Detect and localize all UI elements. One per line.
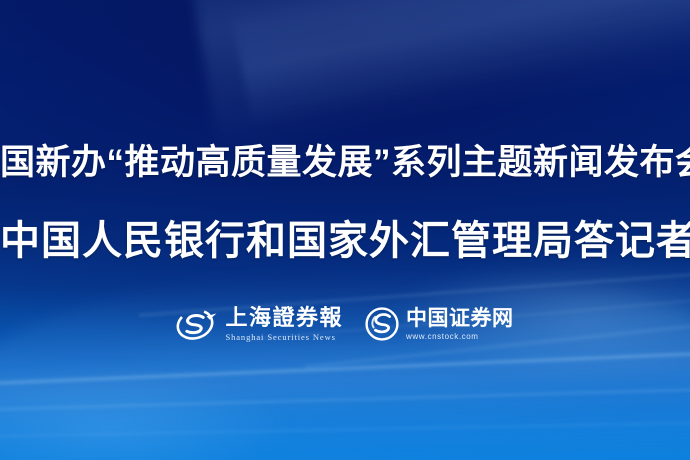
cnstock-circle-spiral-icon	[365, 307, 399, 341]
logo-text-block: 上海證券報 Shanghai Securities News	[225, 307, 343, 342]
logo-name-cn: 中国证券网	[406, 308, 514, 329]
logo-text-block: 中国证券网 www.cnstock.com	[406, 308, 514, 341]
logo-strip: 上海證券報 Shanghai Securities News 中国证券网 www…	[0, 307, 690, 342]
logo-name-en: www.cnstock.com	[406, 333, 514, 341]
headline-secondary: 中国人民银行和国家外汇管理局答记者问	[0, 218, 690, 264]
logo-cnstock: 中国证券网 www.cnstock.com	[365, 307, 514, 341]
shanghai-securities-news-s-swoosh-icon	[176, 308, 218, 341]
logo-shanghai-securities-news: 上海證券報 Shanghai Securities News	[176, 307, 343, 342]
headline-primary: 国新办“推动高质量发展”系列主题新闻发布会	[0, 143, 690, 183]
banner-content: 国新办“推动高质量发展”系列主题新闻发布会 中国人民银行和国家外汇管理局答记者问…	[0, 0, 690, 460]
logo-name-cn: 上海證券報	[225, 307, 343, 329]
logo-name-en: Shanghai Securities News	[225, 333, 343, 342]
news-conference-banner: 国新办“推动高质量发展”系列主题新闻发布会 中国人民银行和国家外汇管理局答记者问…	[0, 0, 690, 460]
